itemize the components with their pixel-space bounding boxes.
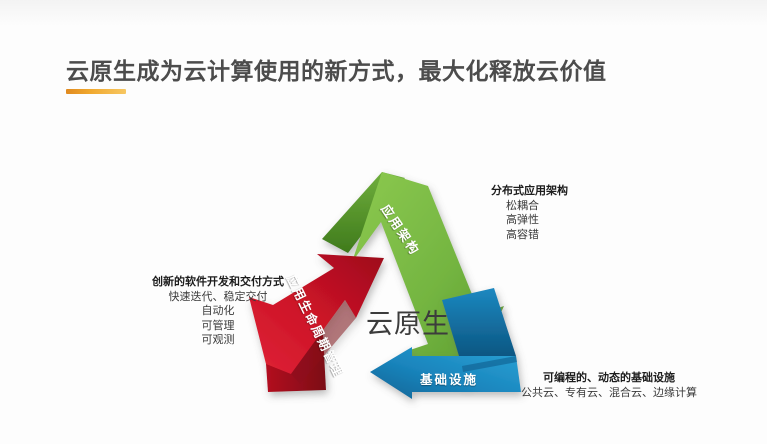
annotation-line: 可观测 [152,333,284,348]
diagram-center-label: 云原生 [366,302,450,341]
annotation-heading: 可编程的、动态的基础设施 [521,371,697,386]
annotation-application-architecture: 分布式应用架构 松耦合 高弹性 高容错 [491,184,568,242]
annotation-line: 高弹性 [491,213,554,228]
arrow-label-infrastructure: 基础设施 [420,369,478,388]
annotation-line: 可管理 [152,319,284,334]
annotation-delivery: 创新的软件开发和交付方式 快速迭代、稳定交付 自动化 可管理 可观测 [152,275,284,348]
slide-canvas: 云原生成为云计算使用的新方式，最大化释放云价值 [0,0,767,444]
annotation-line: 自动化 [152,304,284,319]
annotation-line: 高容错 [491,228,554,243]
annotation-line: 快速迭代、稳定交付 [152,290,284,305]
annotation-infrastructure: 可编程的、动态的基础设施 公共云、专有云、混合云、边缘计算 [521,371,697,400]
annotation-body: 快速迭代、稳定交付 自动化 可管理 可观测 [152,290,284,348]
annotation-heading: 分布式应用架构 [491,184,568,199]
annotation-line: 公共云、专有云、混合云、边缘计算 [521,386,697,401]
annotation-line: 松耦合 [491,199,554,214]
annotation-body: 松耦合 高弹性 高容错 [491,199,568,243]
annotation-heading: 创新的软件开发和交付方式 [152,275,284,290]
